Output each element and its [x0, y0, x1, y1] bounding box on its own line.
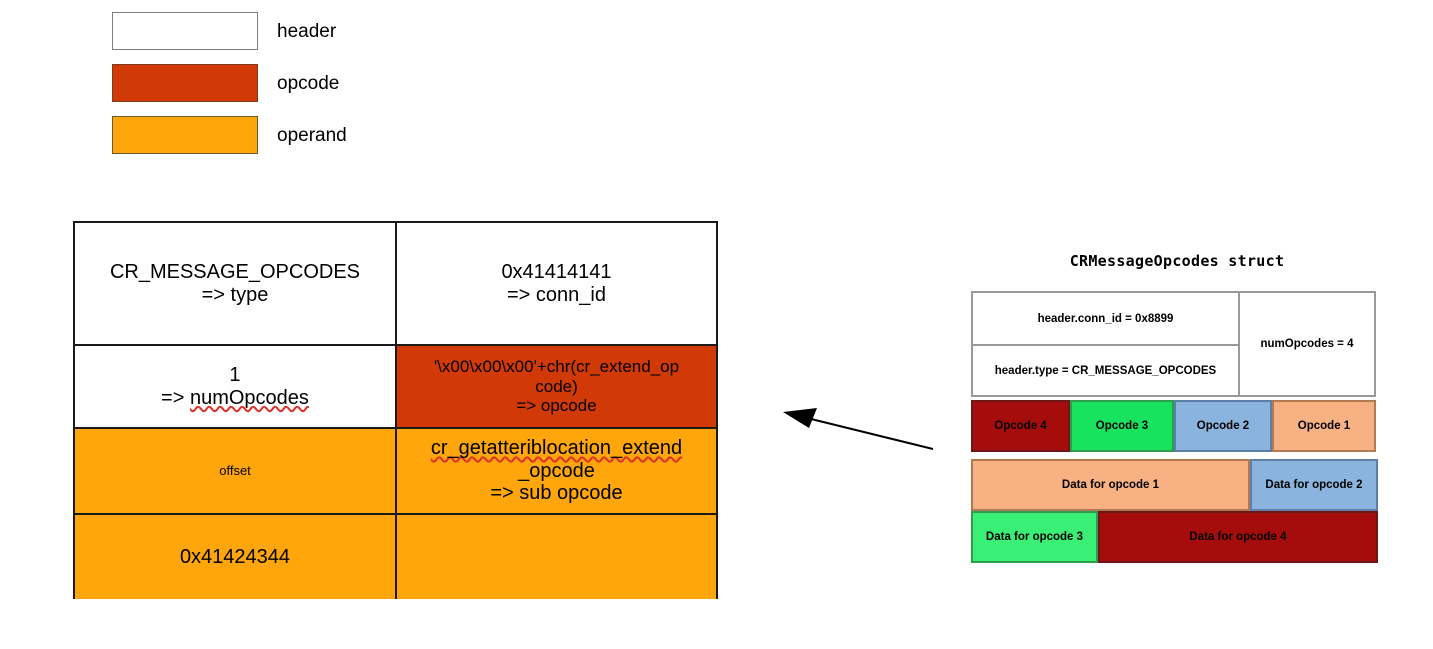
struct-opcode-2: Opcode 2 — [1174, 400, 1272, 452]
struct-data-opcode-3: Data for opcode 3 — [971, 511, 1098, 563]
cell-sub-opcode-value-line1: cr_getatteriblocation_extend — [431, 437, 682, 459]
cell-opcode-value-line1: '\x00\x00\x00'+chr(cr_extend_op — [434, 357, 679, 376]
crmessageopcodes-struct-diagram: CRMessageOpcodes struct header.conn_id =… — [971, 252, 1383, 567]
struct-opcode-3: Opcode 3 — [1070, 400, 1174, 452]
cell-num-opcodes-value: 1 — [229, 364, 240, 386]
legend-label-opcode: opcode — [277, 74, 339, 93]
legend-swatch-operand — [112, 116, 258, 154]
struct-data-opcode-1: Data for opcode 1 — [971, 459, 1250, 511]
cell-sub-opcode-field: => sub opcode — [490, 482, 622, 504]
table-cell-type: CR_MESSAGE_OPCODES => type — [75, 223, 397, 346]
cell-conn-id-value: 0x41414141 — [501, 261, 611, 283]
legend-swatch-header — [112, 12, 258, 50]
struct-opcode-1: Opcode 1 — [1272, 400, 1376, 452]
table-cell-operand-data: 0x41424344 — [75, 515, 397, 599]
struct-header-group: header.conn_id = 0x8899 header.type = CR… — [971, 291, 1376, 397]
cell-sub-opcode-value-line2: _opcode — [518, 460, 595, 482]
cell-offset-label: offset — [219, 463, 251, 478]
struct-title: CRMessageOpcodes struct — [971, 252, 1383, 270]
table-cell-empty — [397, 515, 716, 599]
table-cell-offset: offset — [75, 429, 397, 515]
table-cell-num-opcodes: 1 => numOpcodes — [75, 346, 397, 429]
legend-item-opcode: opcode — [112, 64, 339, 102]
struct-field-type: header.type = CR_MESSAGE_OPCODES — [971, 344, 1240, 397]
cell-num-opcodes-field: numOpcodes — [190, 387, 309, 409]
cell-operand-data-value: 0x41424344 — [180, 546, 290, 568]
cell-type-field: => type — [202, 284, 269, 306]
table-cell-opcode: '\x00\x00\x00'+chr(cr_extend_op code) =>… — [397, 346, 716, 429]
struct-data-opcode-4: Data for opcode 4 — [1098, 511, 1378, 563]
struct-field-num-opcodes: numOpcodes = 4 — [1238, 291, 1376, 397]
legend-label-header: header — [277, 22, 336, 41]
legend-item-header: header — [112, 12, 336, 50]
struct-data-opcode-2: Data for opcode 2 — [1250, 459, 1378, 511]
struct-field-conn-id: header.conn_id = 0x8899 — [971, 291, 1240, 346]
cell-num-opcodes-arrow: => — [161, 387, 190, 409]
struct-opcode-4: Opcode 4 — [971, 400, 1070, 452]
cell-conn-id-field: => conn_id — [507, 284, 606, 306]
struct-header-fields: header.conn_id = 0x8899 header.type = CR… — [971, 291, 1240, 397]
message-layout-table: CR_MESSAGE_OPCODES => type 0x41414141 =>… — [73, 221, 718, 599]
legend-label-operand: operand — [277, 126, 347, 145]
legend-item-operand: operand — [112, 116, 347, 154]
left-pointing-arrow-icon — [775, 398, 945, 460]
legend-swatch-opcode — [112, 64, 258, 102]
cell-opcode-value-line2: code) — [535, 377, 578, 396]
cell-opcode-field: => opcode — [516, 396, 596, 415]
table-cell-sub-opcode: cr_getatteriblocation_extend _opcode => … — [397, 429, 716, 515]
table-cell-conn-id: 0x41414141 => conn_id — [397, 223, 716, 346]
cell-type-value: CR_MESSAGE_OPCODES — [110, 261, 360, 283]
